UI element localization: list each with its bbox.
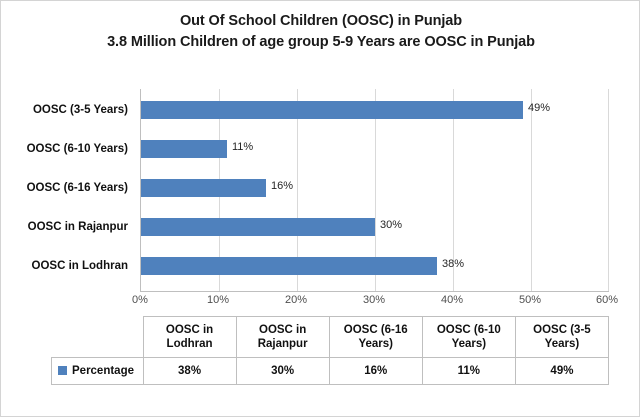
data-table-header-lodhran: OOSC in Lodhran [143, 317, 236, 358]
bar-value-label-0: 49% [528, 102, 550, 114]
header-line-2: Years) [452, 338, 487, 350]
category-label-4: OOSC in Lodhran [32, 257, 128, 275]
header-line-2: Years) [545, 338, 580, 350]
category-label-0: OOSC (3-5 Years) [33, 101, 128, 119]
bar-value-label-3: 30% [380, 219, 402, 231]
axis-tick-20: 20% [285, 294, 307, 306]
data-table-value-6-16-years: 16% [329, 358, 422, 385]
data-table-header-row: OOSC in Lodhran OOSC in Rajanpur OOSC (6… [52, 317, 609, 358]
data-table: OOSC in Lodhran OOSC in Rajanpur OOSC (6… [51, 316, 609, 385]
chart-title: Out Of School Children (OOSC) in Punjab … [1, 11, 640, 53]
data-table-header-6-10-years: OOSC (6-10 Years) [422, 317, 515, 358]
bar-oosc-6-16-years[interactable] [141, 179, 266, 197]
bar-oosc-6-10-years[interactable] [141, 140, 227, 158]
data-table-header-3-5-years: OOSC (3-5 Years) [515, 317, 608, 358]
legend-label: Percentage [72, 365, 134, 377]
header-line-1: OOSC (3-5 [533, 324, 591, 336]
value-axis-labels: 0% 10% 20% 30% 40% 50% 60% [140, 294, 609, 310]
header-line-2: Rajanpur [258, 338, 308, 350]
axis-tick-0: 0% [132, 294, 148, 306]
axis-tick-30: 30% [363, 294, 385, 306]
data-table-header-6-16-years: OOSC (6-16 Years) [329, 317, 422, 358]
header-line-1: OOSC (6-16 [344, 324, 408, 336]
legend-entry-percentage[interactable]: Percentage [52, 358, 144, 385]
bar-oosc-in-rajanpur[interactable] [141, 218, 375, 236]
category-label-3: OOSC in Rajanpur [28, 218, 128, 236]
bar-row-1: 11% [141, 140, 609, 158]
plot-area: 49% 11% 16% 30% 38% [140, 89, 609, 292]
legend-swatch-icon [58, 366, 67, 375]
category-axis-labels: OOSC (3-5 Years) OOSC (6-10 Years) OOSC … [1, 89, 134, 292]
data-table-header-rajanpur: OOSC in Rajanpur [236, 317, 329, 358]
axis-tick-50: 50% [519, 294, 541, 306]
axis-tick-40: 40% [441, 294, 463, 306]
bar-value-label-4: 38% [442, 258, 464, 270]
header-line-1: OOSC in [259, 324, 306, 336]
axis-tick-10: 10% [207, 294, 229, 306]
bar-oosc-in-lodhran[interactable] [141, 257, 437, 275]
axis-tick-60: 60% [596, 294, 618, 306]
chart-title-line-1: Out Of School Children (OOSC) in Punjab [1, 11, 640, 32]
data-table-value-6-10-years: 11% [422, 358, 515, 385]
bar-value-label-1: 11% [232, 141, 253, 153]
bar-value-label-2: 16% [271, 180, 293, 192]
bars-layer: 49% 11% 16% 30% 38% [141, 89, 609, 291]
bar-oosc-3-5-years[interactable] [141, 101, 523, 119]
chart-container: Out Of School Children (OOSC) in Punjab … [0, 0, 640, 417]
data-table-value-row: Percentage 38% 30% 16% 11% 49% [52, 358, 609, 385]
header-line-2: Lodhran [167, 338, 213, 350]
category-label-2: OOSC (6-16 Years) [27, 179, 128, 197]
header-line-2: Years) [358, 338, 393, 350]
header-line-1: OOSC in [166, 324, 213, 336]
bar-row-4: 38% [141, 257, 609, 275]
data-table-value-rajanpur: 30% [236, 358, 329, 385]
data-table-corner-cell [52, 317, 144, 358]
bar-row-2: 16% [141, 179, 609, 197]
bar-row-3: 30% [141, 218, 609, 236]
bar-row-0: 49% [141, 101, 609, 119]
category-label-1: OOSC (6-10 Years) [27, 140, 128, 158]
header-line-1: OOSC (6-10 [437, 324, 501, 336]
data-table-value-lodhran: 38% [143, 358, 236, 385]
data-table-value-3-5-years: 49% [515, 358, 608, 385]
chart-title-line-2: 3.8 Million Children of age group 5-9 Ye… [1, 32, 640, 53]
